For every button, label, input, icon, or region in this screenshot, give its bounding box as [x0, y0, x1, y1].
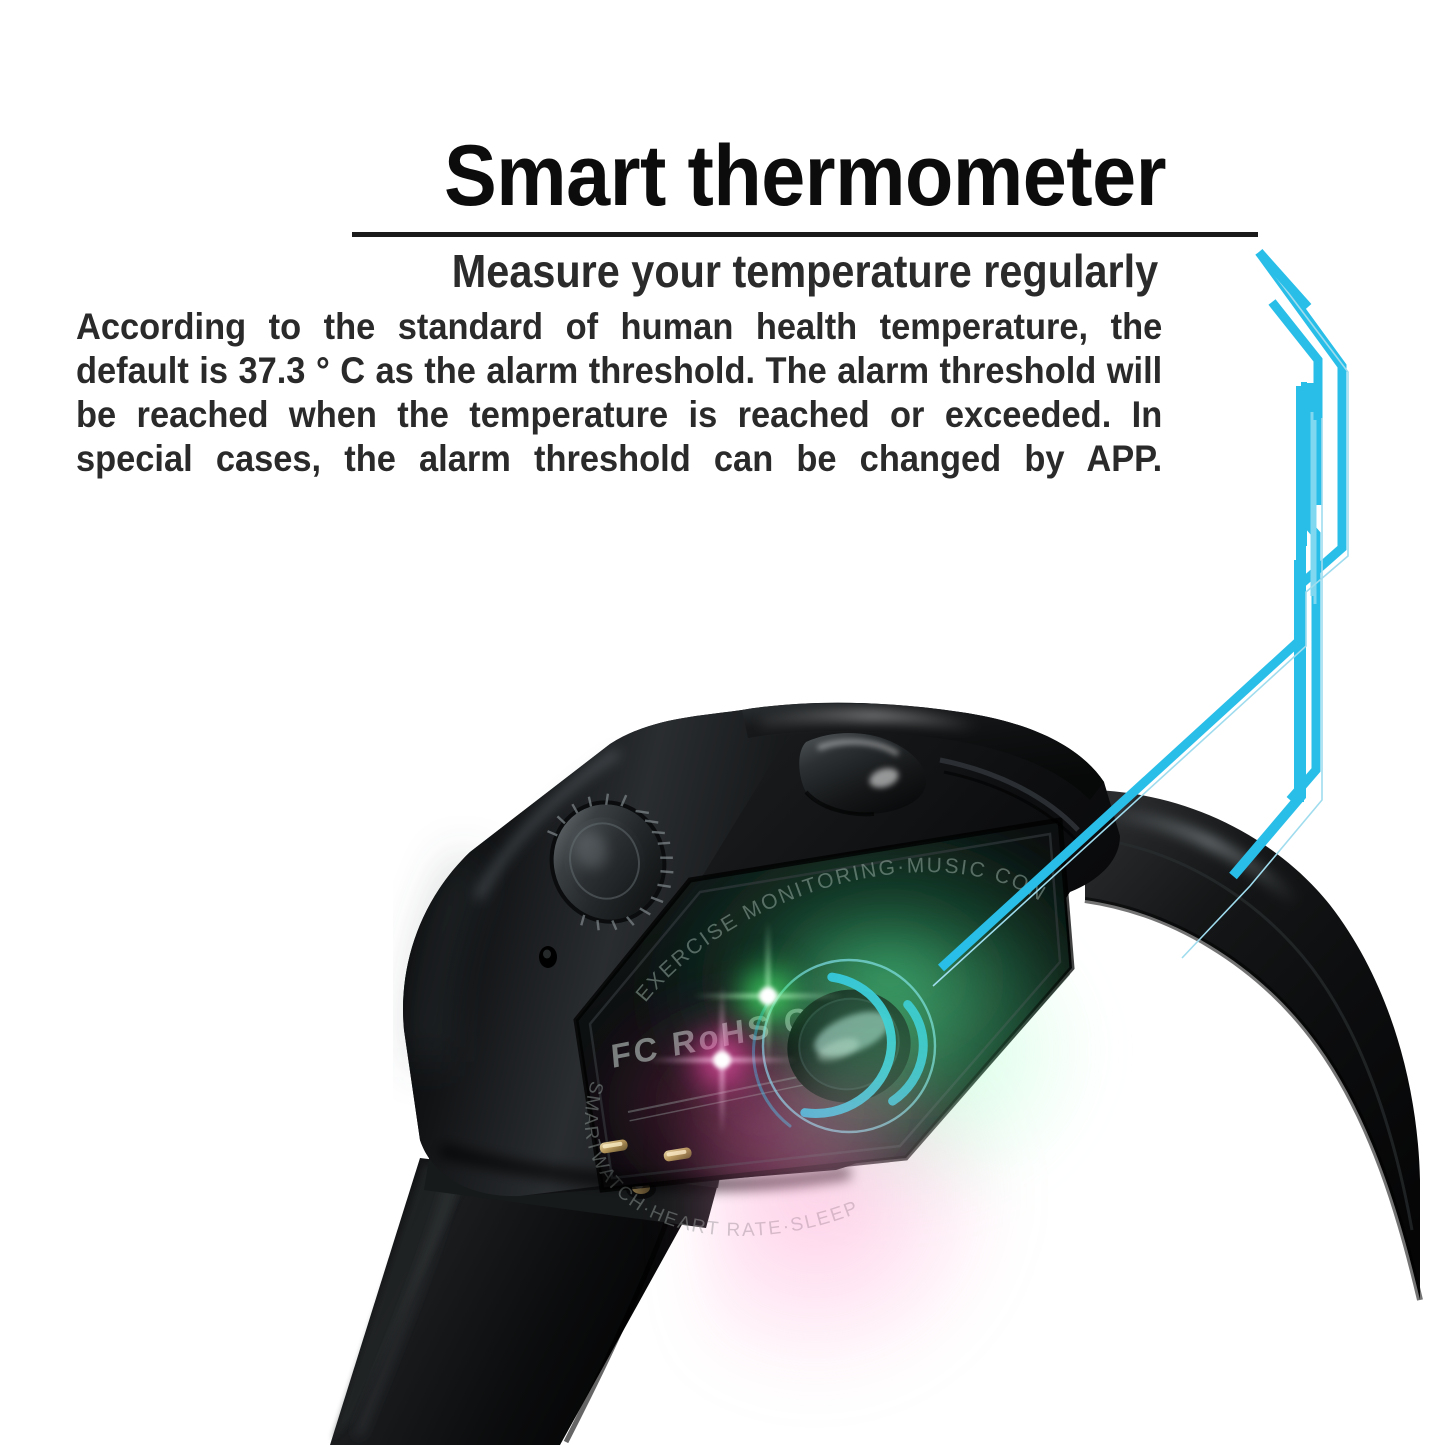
microphone-hole [539, 946, 557, 968]
description-paragraph: According to the standard of human healt… [76, 305, 1162, 525]
title-divider [352, 231, 1258, 237]
page-subtitle: Measure your temperature regularly [397, 243, 1212, 299]
watch-strap-right [1085, 790, 1420, 1300]
page-title: Smart thermometer [388, 128, 1222, 224]
header-block: Smart thermometer Measure your temperatu… [0, 0, 1445, 490]
product-feature-page: EXERCISE MONITORING·MUSIC CONTROL·SMART … [0, 0, 1445, 1445]
